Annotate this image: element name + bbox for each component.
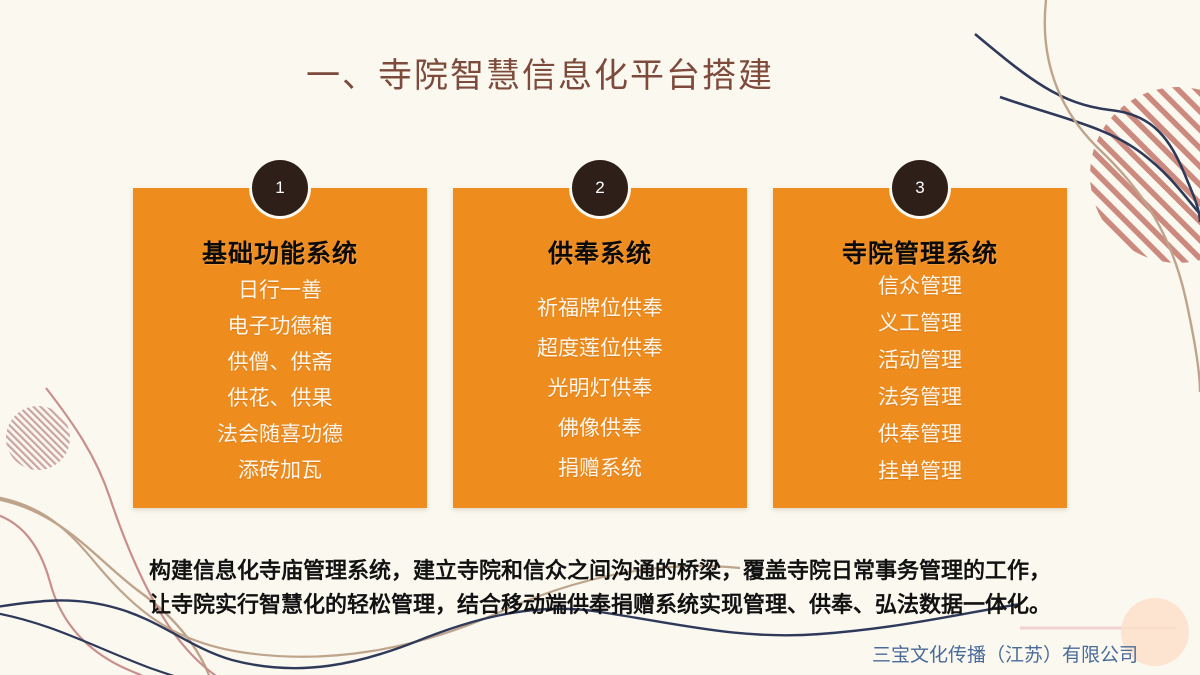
list-item: 添砖加瓦: [238, 460, 322, 481]
system-card-basic[interactable]: 1 基础功能系统 日行一善 电子功德箱 供僧、供斋 供花、供果 法会随喜功德 添…: [133, 188, 427, 508]
list-item: 佛像供奉: [558, 418, 642, 439]
card-number-badge: 2: [572, 160, 628, 216]
list-item: 供僧、供斋: [228, 352, 333, 373]
card-feature-list: 日行一善 电子功德箱 供僧、供斋 供花、供果 法会随喜功德 添砖加瓦: [133, 280, 427, 496]
page-title: 一、寺院智慧信息化平台搭建: [0, 48, 1080, 97]
list-item: 供花、供果: [228, 388, 333, 409]
list-item: 信众管理: [878, 276, 962, 297]
list-item: 活动管理: [878, 350, 962, 371]
card-feature-list: 信众管理 义工管理 活动管理 法务管理 供奉管理 挂单管理: [773, 276, 1067, 498]
summary-line-1: 构建信息化寺庙管理系统，建立寺院和信众之间沟通的桥梁，覆盖寺院日常事务管理的工作…: [48, 554, 1152, 588]
summary-line-2: 让寺院实行智慧化的轻松管理，结合移动端供奉捐赠系统实现管理、供奉、弘法数据一体化…: [48, 588, 1152, 622]
card-number-badge: 1: [252, 160, 308, 216]
list-item: 法会随喜功德: [217, 424, 343, 445]
footer-company-name: 三宝文化传播（江苏）有限公司: [872, 640, 1138, 667]
system-card-management[interactable]: 3 寺院管理系统 信众管理 义工管理 活动管理 法务管理 供奉管理 挂单管理: [773, 188, 1067, 508]
summary-paragraph: 构建信息化寺庙管理系统，建立寺院和信众之间沟通的桥梁，覆盖寺院日常事务管理的工作…: [48, 554, 1152, 622]
list-item: 电子功德箱: [228, 316, 333, 337]
hatched-circle-top-right: [1090, 87, 1200, 263]
list-item: 日行一善: [238, 280, 322, 301]
list-item: 法务管理: [878, 387, 962, 408]
list-item: 光明灯供奉: [548, 378, 653, 399]
list-item: 供奉管理: [878, 424, 962, 445]
list-item: 祈福牌位供奉: [537, 298, 663, 319]
card-title: 基础功能系统: [133, 234, 427, 270]
hatched-dot-bottom-left: [6, 406, 70, 470]
list-item: 超度莲位供奉: [537, 338, 663, 359]
list-item: 挂单管理: [878, 461, 962, 482]
list-item: 捐赠系统: [558, 458, 642, 479]
list-item: 义工管理: [878, 313, 962, 334]
system-card-offering[interactable]: 2 供奉系统 祈福牌位供奉 超度莲位供奉 光明灯供奉 佛像供奉 捐赠系统: [453, 188, 747, 508]
card-title: 寺院管理系统: [773, 234, 1067, 270]
card-feature-list: 祈福牌位供奉 超度莲位供奉 光明灯供奉 佛像供奉 捐赠系统: [453, 298, 747, 498]
slide-canvas: 一、寺院智慧信息化平台搭建 1 基础功能系统 日行一善 电子功德箱 供僧、供斋 …: [0, 0, 1200, 675]
card-title: 供奉系统: [453, 234, 747, 270]
card-number-badge: 3: [892, 160, 948, 216]
